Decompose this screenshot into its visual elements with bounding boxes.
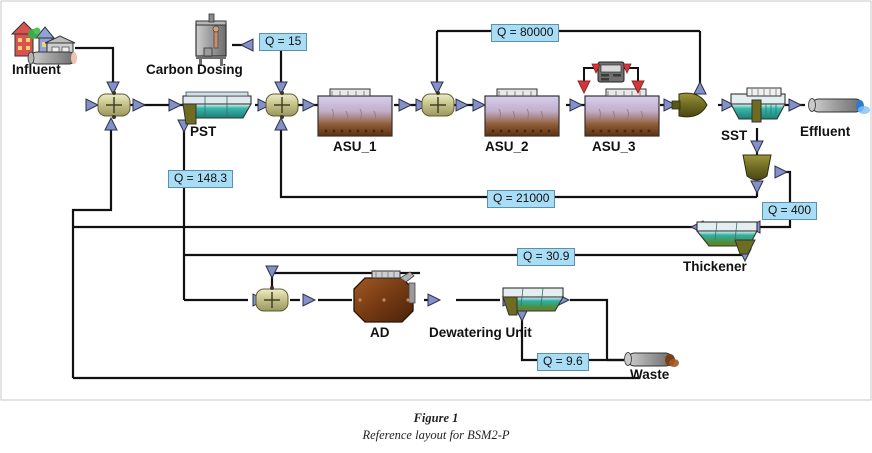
process-flow-diagram xyxy=(0,0,872,453)
mixer-icon xyxy=(98,91,130,119)
unit-label-asu1: ASU_1 xyxy=(333,139,377,154)
splitter-icon xyxy=(672,93,707,117)
aeration-tank-icon xyxy=(318,89,392,136)
secondary-clarifier-icon xyxy=(731,88,785,122)
mixer-icon xyxy=(256,286,288,311)
dosing-tank-icon xyxy=(196,14,226,66)
thickener-icon xyxy=(697,222,757,254)
flow-badge-thickener: Q = 30.9 xyxy=(517,248,575,266)
dewatering-icon xyxy=(503,288,563,315)
outfall-pipe-icon xyxy=(625,353,680,368)
flow-badge-dewatering: Q = 9.6 xyxy=(537,353,589,371)
diagram-canvas: Influent Carbon Dosing PST ASU_1 ASU_2 A… xyxy=(0,0,872,453)
flow-badge-was: Q = 400 xyxy=(762,202,817,220)
unit-label-effluent: Effluent xyxy=(800,124,850,139)
flow-badge-pst-underflow: Q = 148.3 xyxy=(168,170,233,188)
flow-badge-internal-recycle: Q = 80000 xyxy=(491,24,559,42)
unit-label-asu3: ASU_3 xyxy=(592,139,636,154)
mixer-icon xyxy=(422,91,454,116)
unit-label-sst: SST xyxy=(721,128,747,143)
unit-label-asu2: ASU_2 xyxy=(485,139,529,154)
unit-label-thickener: Thickener xyxy=(683,259,747,274)
unit-label-waste: Waste xyxy=(630,367,669,382)
unit-label-dewatering: Dewatering Unit xyxy=(429,325,532,340)
aeration-tank-icon xyxy=(485,89,559,136)
outfall-pipe-icon xyxy=(809,99,871,115)
flow-badge-ras: Q = 21000 xyxy=(487,190,555,208)
unit-label-influent: Influent xyxy=(12,62,61,77)
unit-label-carbon: Carbon Dosing xyxy=(146,62,243,77)
digester-icon xyxy=(354,271,415,322)
aeration-tank-icon xyxy=(585,89,659,136)
do-controller-icon xyxy=(578,62,644,93)
unit-label-pst: PST xyxy=(190,124,216,139)
figure-title: Figure 1 xyxy=(0,411,872,426)
flow-badge-carbon: Q = 15 xyxy=(259,33,307,51)
mixer-icon xyxy=(266,91,298,119)
houses-pipe-icon xyxy=(12,22,77,64)
splitter-icon xyxy=(743,155,771,180)
primary-clarifier-icon xyxy=(183,92,251,124)
unit-label-ad: AD xyxy=(370,325,390,340)
figure-subtitle: Reference layout for BSM2-P xyxy=(0,428,872,443)
